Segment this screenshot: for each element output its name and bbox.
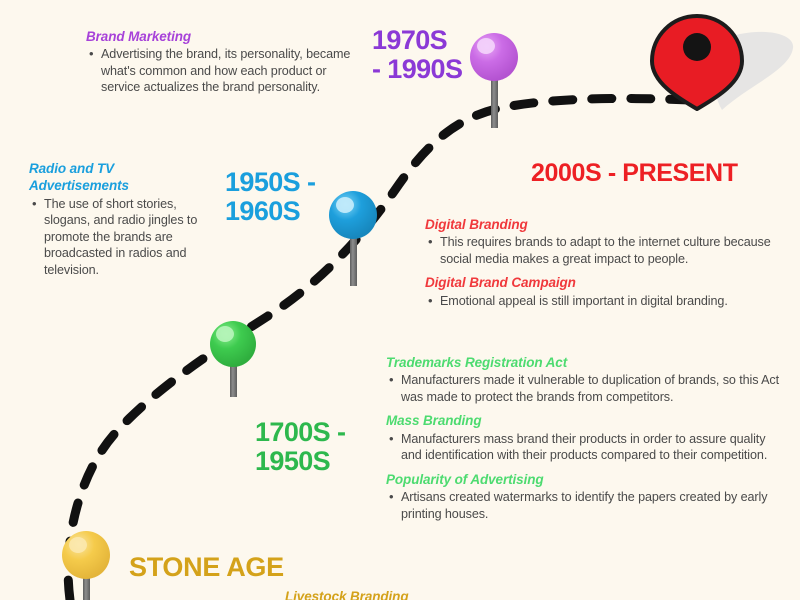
era-label-1700s-1950s: 1700S - 1950S bbox=[255, 418, 345, 475]
marker-shadow bbox=[708, 32, 793, 110]
blue-pin bbox=[329, 191, 377, 286]
gold-pin bbox=[62, 531, 110, 600]
infographic-canvas: 1970S - 1990S 1950S - 1960S 1700S - 1950… bbox=[0, 0, 800, 600]
section-green-group: Trademarks Registration Act Manufacturer… bbox=[386, 354, 784, 529]
section-heading: Popularity of Advertising bbox=[386, 471, 784, 488]
section-digital-branding-group: Digital Branding This requires brands to… bbox=[425, 216, 785, 316]
section-brand-marketing: Brand Marketing Advertising the brand, i… bbox=[86, 28, 352, 103]
section-heading: Mass Branding bbox=[386, 412, 784, 429]
bullet-item: This requires brands to adapt to the int… bbox=[440, 234, 785, 267]
bullet-item: The use of short stories, slogans, and r… bbox=[44, 196, 214, 279]
section-heading: Livestock Branding bbox=[285, 588, 585, 600]
red-map-marker bbox=[652, 16, 793, 110]
section-heading: Digital Brand Campaign bbox=[425, 274, 785, 291]
section-heading: Radio and TV Advertisements bbox=[29, 160, 214, 195]
bullet-list: Artisans created watermarks to identify … bbox=[386, 489, 784, 522]
bullet-list: This requires brands to adapt to the int… bbox=[425, 234, 785, 267]
bullet-list: Manufacturers mass brand their products … bbox=[386, 431, 784, 464]
era-label-1950s-1960s: 1950S - 1960S bbox=[225, 168, 315, 225]
bullet-list: Emotional appeal is still important in d… bbox=[425, 293, 785, 310]
section-heading: Digital Branding bbox=[425, 216, 785, 233]
era-label-2000s-present: 2000S - PRESENT bbox=[531, 160, 738, 187]
bullet-list: The use of short stories, slogans, and r… bbox=[29, 196, 214, 279]
green-pin bbox=[210, 321, 256, 397]
section-livestock-branding: Livestock Branding bbox=[285, 588, 585, 600]
section-heading: Brand Marketing bbox=[86, 28, 352, 45]
bullet-item: Advertising the brand, its personality, … bbox=[101, 46, 352, 96]
bullet-list: Advertising the brand, its personality, … bbox=[86, 46, 352, 96]
section-heading: Trademarks Registration Act bbox=[386, 354, 784, 371]
bullet-item: Emotional appeal is still important in d… bbox=[440, 293, 785, 310]
bullet-list: Manufacturers made it vulnerable to dupl… bbox=[386, 372, 784, 405]
bullet-item: Artisans created watermarks to identify … bbox=[401, 489, 784, 522]
bullet-item: Manufacturers mass brand their products … bbox=[401, 431, 784, 464]
era-label-stone-age: STONE AGE bbox=[129, 553, 284, 582]
bullet-item: Manufacturers made it vulnerable to dupl… bbox=[401, 372, 784, 405]
era-label-1970s-1990s: 1970S - 1990S bbox=[372, 26, 462, 83]
purple-pin bbox=[470, 33, 518, 128]
section-radio-tv-advertisements: Radio and TV Advertisements The use of s… bbox=[29, 160, 214, 286]
